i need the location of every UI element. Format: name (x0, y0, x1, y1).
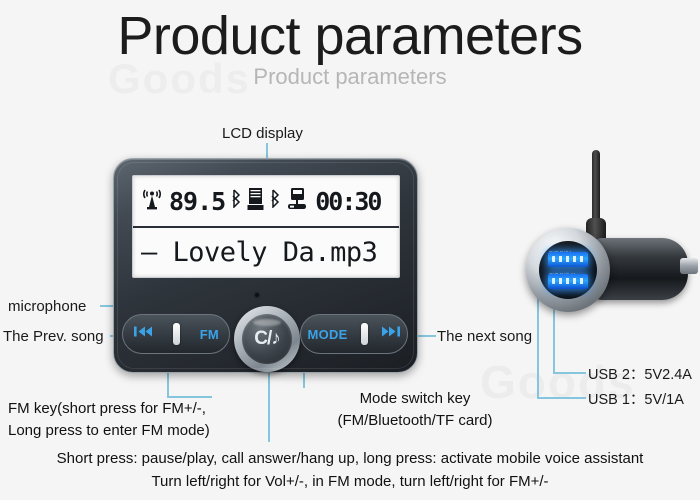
label-short-press-line2: Turn left/right for Vol+/-, in FM mode, … (0, 471, 700, 494)
label-next-song: The next song (437, 327, 532, 347)
label-short-press-line1: Short press: pause/play, call answer/han… (0, 448, 700, 471)
charger-contact-tip (680, 258, 698, 274)
fm-button[interactable]: FM (200, 327, 219, 342)
label-fm-key: FM key(short press for FM+/-, Long press… (8, 398, 223, 442)
label-usb1: USB 1：5V/1A (588, 391, 684, 411)
call-music-icon: C/♪ (254, 328, 280, 350)
usb-port-1 (548, 252, 588, 267)
mode-button[interactable]: MODE (307, 327, 347, 342)
label-lcd-display: LCD display (222, 124, 303, 144)
lcd-track-row: — Lovely Da.mp3 (133, 228, 399, 276)
page-title: Product parameters (0, 8, 700, 65)
pad-divider-right (361, 323, 368, 345)
next-track-icon[interactable] (381, 325, 401, 343)
lcd-frequency: 89.5 (169, 187, 225, 216)
label-short-press: Short press: pause/play, call answer/han… (0, 448, 700, 493)
label-mode-key: Mode switch key (FM/Bluetooth/TF card) (300, 388, 530, 432)
microphone-hole (255, 293, 259, 297)
label-usb2: USB 2：5V2.4A (588, 366, 692, 386)
label-mode-key-line2: (FM/Bluetooth/TF card) (300, 410, 530, 432)
fm-transmitter-device: 89.5 (113, 158, 418, 373)
multifunction-knob[interactable]: C/♪ (234, 306, 300, 372)
label-mode-key-line1: Mode switch key (300, 388, 530, 410)
knob-inner[interactable]: C/♪ (242, 314, 292, 364)
bluetooth-icon (231, 189, 241, 213)
car-charger: OUT 5V/1A OUT 5V/2.4A (520, 150, 695, 310)
antenna-broadcast-icon (141, 187, 163, 215)
lcd-display: 89.5 (132, 175, 400, 278)
previous-track-icon[interactable] (133, 325, 153, 343)
charger-cable (592, 150, 600, 228)
infographic-root: Goods Goods Product parameters Product p… (0, 0, 700, 500)
page-subtitle: Product parameters (0, 64, 700, 90)
label-microphone: microphone (8, 297, 86, 317)
lcd-status-row: 89.5 (133, 176, 399, 228)
label-prev-song: The Prev. song (3, 327, 104, 347)
lcd-time: 00:30 (315, 187, 380, 216)
charger-head: OUT 5V/1A OUT 5V/2.4A (526, 228, 610, 312)
button-bar: FM C/♪ MODE (114, 314, 419, 358)
left-button-pad: FM (122, 314, 230, 354)
connector-usb2-vertical (553, 300, 555, 372)
connector-usb2-horizontal (553, 372, 586, 374)
usb-port-2 (548, 274, 588, 289)
charger-face: OUT 5V/1A OUT 5V/2.4A (539, 241, 597, 299)
usb-device-icon (286, 187, 308, 215)
bluetooth-icon-secondary (270, 189, 280, 213)
right-button-pad: MODE (300, 314, 408, 354)
pad-divider (173, 323, 180, 345)
tf-card-icon (247, 187, 264, 215)
connector-usb1-horizontal (537, 397, 586, 399)
